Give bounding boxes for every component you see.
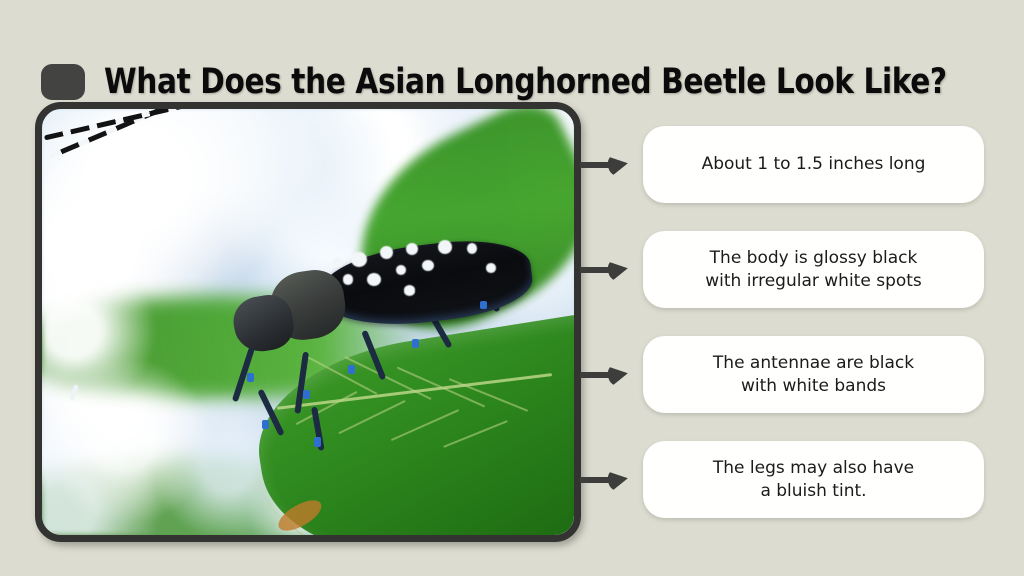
beetle-head (229, 292, 296, 357)
callout-card-size[interactable]: About 1 to 1.5 inches long (643, 126, 984, 203)
arrow-stem (580, 162, 610, 168)
callout-text: The antennae are black with white bands (689, 352, 938, 398)
beetle-white-spot (343, 274, 354, 284)
beetle-antenna-upper (44, 109, 232, 140)
beetle-leg-blue-band (247, 373, 254, 382)
callout-line: with white bands (741, 376, 886, 396)
beetle-leg-blue-band (348, 365, 355, 374)
beetle-white-spot (332, 257, 343, 266)
beetle-antenna-tip (69, 384, 79, 401)
beetle-leg (294, 351, 309, 413)
callout-line: About 1 to 1.5 inches long (702, 154, 926, 174)
callout-line: with irregular white spots (705, 271, 922, 291)
slide-root: What Does the Asian Longhorned Beetle Lo… (0, 0, 1024, 576)
beetle (42, 109, 574, 535)
callout-line: a bluish tint. (760, 481, 866, 501)
beetle-antenna-lower (50, 109, 263, 158)
callout-line: The antennae are black (713, 353, 914, 373)
beetle-leg-blue-band (480, 301, 487, 309)
connector-arrow-3 (580, 364, 630, 386)
callout-card-body[interactable]: The body is glossy black with irregular … (643, 231, 984, 308)
beetle-white-spot (380, 246, 393, 259)
page-title: What Does the Asian Longhorned Beetle Lo… (104, 56, 941, 108)
beetle-photo-frame (35, 102, 581, 542)
title-bullet-square (41, 64, 85, 100)
arrow-head-icon (606, 257, 630, 282)
beetle-white-spot (404, 285, 416, 295)
beetle-white-spot (438, 240, 452, 254)
beetle-leg-blue-band (412, 339, 419, 348)
arrow-stem (580, 372, 610, 378)
connector-arrow-1 (580, 154, 630, 176)
beetle-leg-blue-band (303, 390, 310, 399)
callout-card-antennae[interactable]: The antennae are black with white bands (643, 336, 984, 413)
beetle-leg (361, 329, 386, 379)
arrow-stem (580, 477, 610, 483)
callout-line: The body is glossy black (710, 248, 918, 268)
beetle-photo (42, 109, 574, 535)
callout-line: The legs may also have (713, 458, 914, 478)
arrow-head-icon (606, 152, 630, 177)
arrow-head-icon (606, 467, 630, 492)
callout-text: The legs may also have a bluish tint. (689, 457, 938, 503)
beetle-leg-blue-band (262, 420, 269, 429)
beetle-white-spot (422, 260, 434, 271)
callout-text: The body is glossy black with irregular … (681, 247, 946, 293)
beetle-leg-blue-band (314, 437, 321, 447)
slide-header: What Does the Asian Longhorned Beetle Lo… (0, 26, 1024, 88)
callout-text: About 1 to 1.5 inches long (678, 153, 950, 176)
beetle-white-spot (351, 252, 367, 267)
beetle-leg (258, 389, 285, 437)
beetle-white-spot (486, 263, 496, 272)
connector-arrow-2 (580, 259, 630, 281)
arrow-head-icon (606, 362, 630, 387)
beetle-white-spot (467, 243, 478, 254)
arrow-stem (580, 267, 610, 273)
connector-arrow-4 (580, 469, 630, 491)
callout-card-legs[interactable]: The legs may also have a bluish tint. (643, 441, 984, 518)
